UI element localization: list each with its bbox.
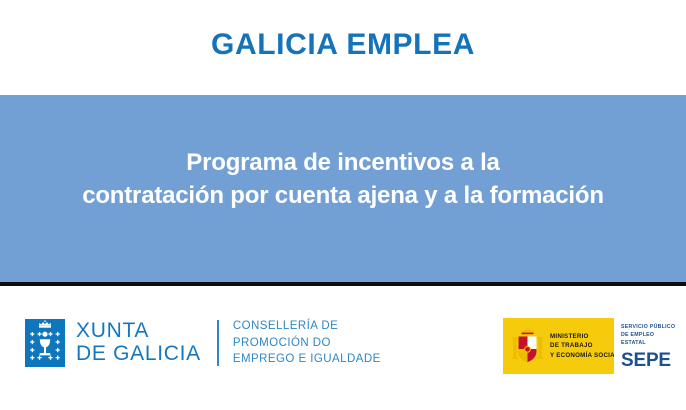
program-banner: Programa de incentivos a la contratación… (0, 95, 686, 282)
logo-divider (217, 320, 219, 366)
ministerio-line-3: Y ECONOMÍA SOCIAL (550, 351, 619, 361)
program-banner-line-2: contratación por cuenta ajena y a la for… (82, 180, 604, 212)
xunta-wordmark-line-2: DE GALICIA (76, 343, 201, 366)
ministerio-text: MINISTERIO DE TRABAJO Y ECONOMÍA SOCIAL (550, 332, 619, 361)
government-logos: MINISTERIO DE TRABAJO Y ECONOMÍA SOCIAL … (503, 318, 686, 374)
xunta-emblem-icon (25, 319, 65, 367)
conselleria-text: CONSELLERÍA DE PROMOCIÓN DO EMPREGO E IG… (233, 318, 381, 368)
xunta-wordmark-line-1: XUNTA (76, 320, 201, 343)
sepe-logo: SERVICIO PÚBLICO DE EMPLEO ESTATAL SEPE (614, 318, 686, 374)
sepe-subtitle-line-1: SERVICIO PÚBLICO (621, 324, 679, 332)
sepe-acronym: SEPE (621, 351, 679, 370)
sepe-subtitle: SERVICIO PÚBLICO DE EMPLEO ESTATAL (621, 324, 679, 347)
sepe-subtitle-line-2: DE EMPLEO ESTATAL (621, 332, 679, 348)
program-banner-line-1: Programa de incentivos a la (82, 147, 604, 179)
page-title: GALICIA EMPLEA (211, 28, 475, 61)
ministerio-logo: MINISTERIO DE TRABAJO Y ECONOMÍA SOCIAL (503, 318, 614, 374)
xunta-wordmark: XUNTA DE GALICIA (76, 320, 201, 365)
spain-coat-of-arms-icon (512, 327, 543, 365)
conselleria-line-3: EMPREGO E IGUALDADE (233, 351, 381, 368)
footer-logos: XUNTA DE GALICIA CONSELLERÍA DE PROMOCIÓ… (0, 290, 686, 410)
conselleria-line-1: CONSELLERÍA DE (233, 318, 381, 335)
banner-bottom-rule (0, 282, 686, 286)
page-header: GALICIA EMPLEA (0, 0, 686, 95)
xunta-de-galicia-logo: XUNTA DE GALICIA CONSELLERÍA DE PROMOCIÓ… (25, 318, 381, 368)
program-banner-text: Programa de incentivos a la contratación… (82, 147, 604, 212)
ministerio-line-2: DE TRABAJO (550, 341, 619, 351)
conselleria-line-2: PROMOCIÓN DO (233, 335, 381, 352)
ministerio-line-1: MINISTERIO (550, 332, 619, 342)
